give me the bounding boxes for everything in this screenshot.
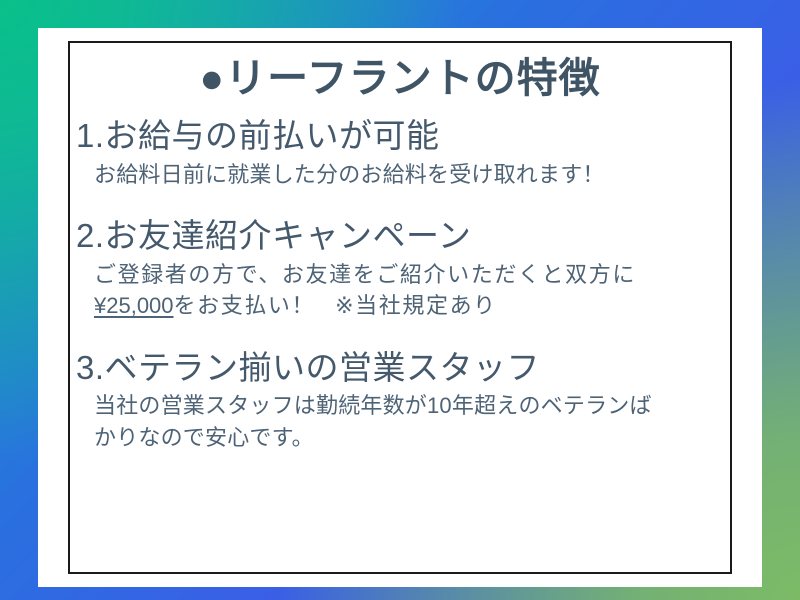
feature-body-3: 当社の営業スタッフは勤続年数が10年超えのベテランば かりなので安心です。 [72,390,728,453]
feature-body-3-line-1: 当社の営業スタッフは勤続年数が10年超えのベテランば [94,390,728,422]
feature-item-1: 1.お給与の前払いが可能 お給料日前に就業した分のお給料を受け取れます！ [72,116,728,190]
feature-body-3-line-2: かりなので安心です。 [94,422,728,454]
referral-bonus-suffix: をお支払い！ [174,293,316,318]
page-title: ●リーフラントの特徴 [72,54,728,102]
feature-body-2-line-1: ご登録者の方で、お友達をご紹介いただくと双方に [94,259,728,291]
slide-canvas: ●リーフラントの特徴 1.お給与の前払いが可能 お給料日前に就業した分のお給料を… [0,0,800,600]
feature-item-3: 3.ベテラン揃いの営業スタッフ 当社の営業スタッフは勤続年数が10年超えのベテラ… [72,348,728,454]
referral-bonus-amount: ¥25,000 [94,293,174,318]
feature-body-2-line-2: ¥25,000をお支払い！※当社規定あり [94,290,728,322]
slide-content: ●リーフラントの特徴 1.お給与の前払いが可能 お給料日前に就業した分のお給料を… [38,28,762,587]
feature-body-2: ご登録者の方で、お友達をご紹介いただくと双方に ¥25,000をお支払い！※当社… [72,259,728,322]
feature-item-2: 2.お友達紹介キャンペーン ご登録者の方で、お友達をご紹介いただくと双方に ¥2… [72,216,728,322]
referral-note: ※当社規定あり [335,293,497,318]
feature-body-1-line-1: お給料日前に就業した分のお給料を受け取れます！ [94,159,728,191]
feature-heading-1: 1.お給与の前払いが可能 [72,116,728,156]
feature-heading-3: 3.ベテラン揃いの営業スタッフ [72,348,728,388]
content-card: ●リーフラントの特徴 1.お給与の前払いが可能 お給料日前に就業した分のお給料を… [38,28,762,587]
feature-heading-2: 2.お友達紹介キャンペーン [72,216,728,256]
feature-body-1: お給料日前に就業した分のお給料を受け取れます！ [72,159,728,191]
